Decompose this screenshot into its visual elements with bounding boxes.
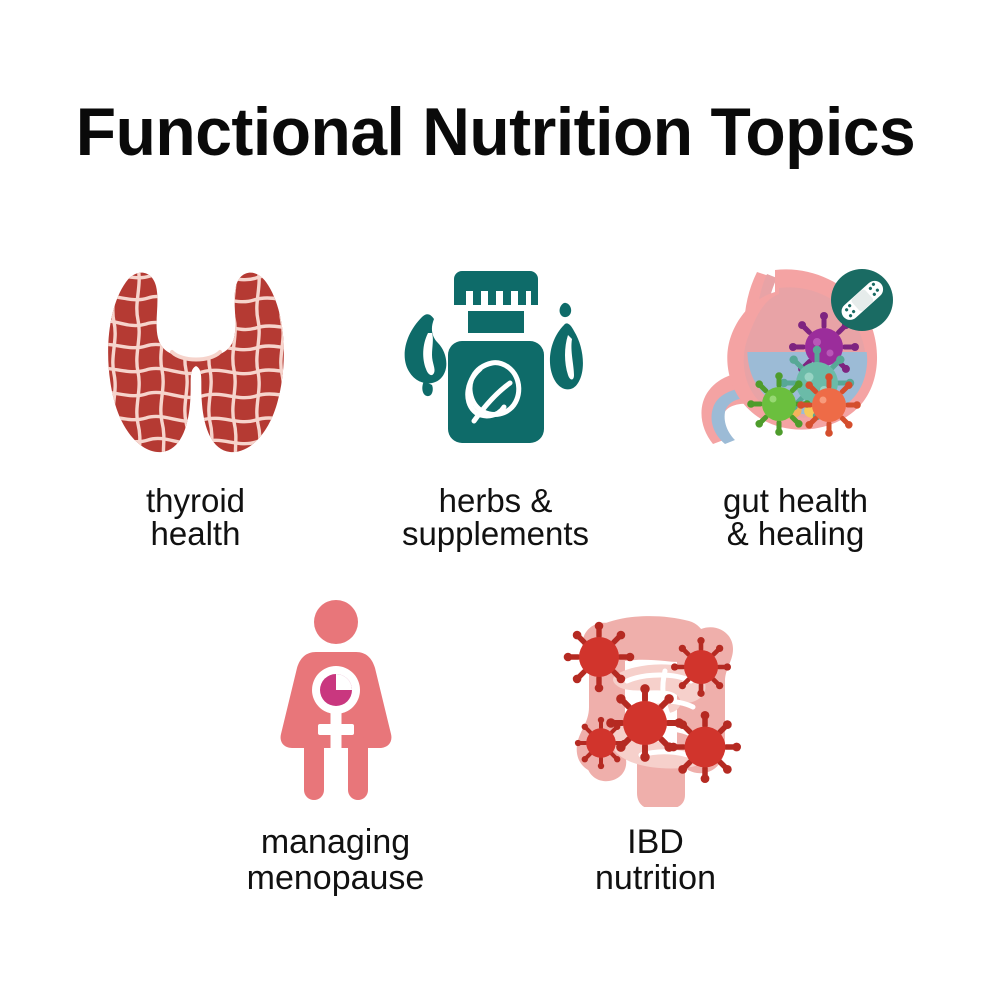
- leaf-left-icon: [404, 314, 446, 396]
- topic-card-ibd-nutrition[interactable]: IBD nutrition: [496, 592, 816, 896]
- topic-card-gut-health-healing[interactable]: gut health & healing: [646, 248, 946, 550]
- topic-card-managing-menopause[interactable]: managing menopause: [176, 592, 496, 896]
- topic-label-gut-health-healing: gut health & healing: [723, 484, 868, 550]
- infographic-canvas: Functional Nutrition Topics: [0, 0, 991, 991]
- topic-label-managing-menopause: managing menopause: [247, 824, 425, 896]
- female-figure-venus-icon: [270, 598, 402, 804]
- bandage-badge-icon: [831, 269, 893, 331]
- bottle-neck-band: [468, 311, 524, 333]
- topic-row-1: thyroid health: [0, 248, 991, 550]
- ibd-art-wrap: [541, 592, 771, 810]
- topic-label-ibd-nutrition: IBD nutrition: [595, 824, 716, 896]
- thyroid-art-wrap: [81, 248, 311, 470]
- leaf-right-icon: [549, 303, 582, 390]
- menopause-art-wrap: [221, 592, 451, 810]
- supplement-art-wrap: [381, 248, 611, 470]
- figure-head: [314, 600, 358, 644]
- inflamed-intestine-icon: [553, 595, 758, 807]
- topic-label-herbs-supplements: herbs & supplements: [402, 484, 589, 550]
- page-title: Functional Nutrition Topics: [15, 96, 976, 168]
- topic-card-thyroid-health[interactable]: thyroid health: [46, 248, 346, 550]
- stomach-microbiome-icon: [683, 252, 908, 467]
- topic-card-herbs-supplements[interactable]: herbs & supplements: [346, 248, 646, 550]
- thyroid-gland-icon: [88, 252, 304, 466]
- figure-leg-right: [348, 736, 368, 800]
- gut-art-wrap: [681, 248, 911, 470]
- supplement-bottle-icon: [388, 259, 604, 459]
- topic-row-2: managing menopause: [0, 592, 991, 896]
- topic-label-thyroid-health: thyroid health: [146, 484, 245, 550]
- figure-leg-left: [304, 736, 324, 800]
